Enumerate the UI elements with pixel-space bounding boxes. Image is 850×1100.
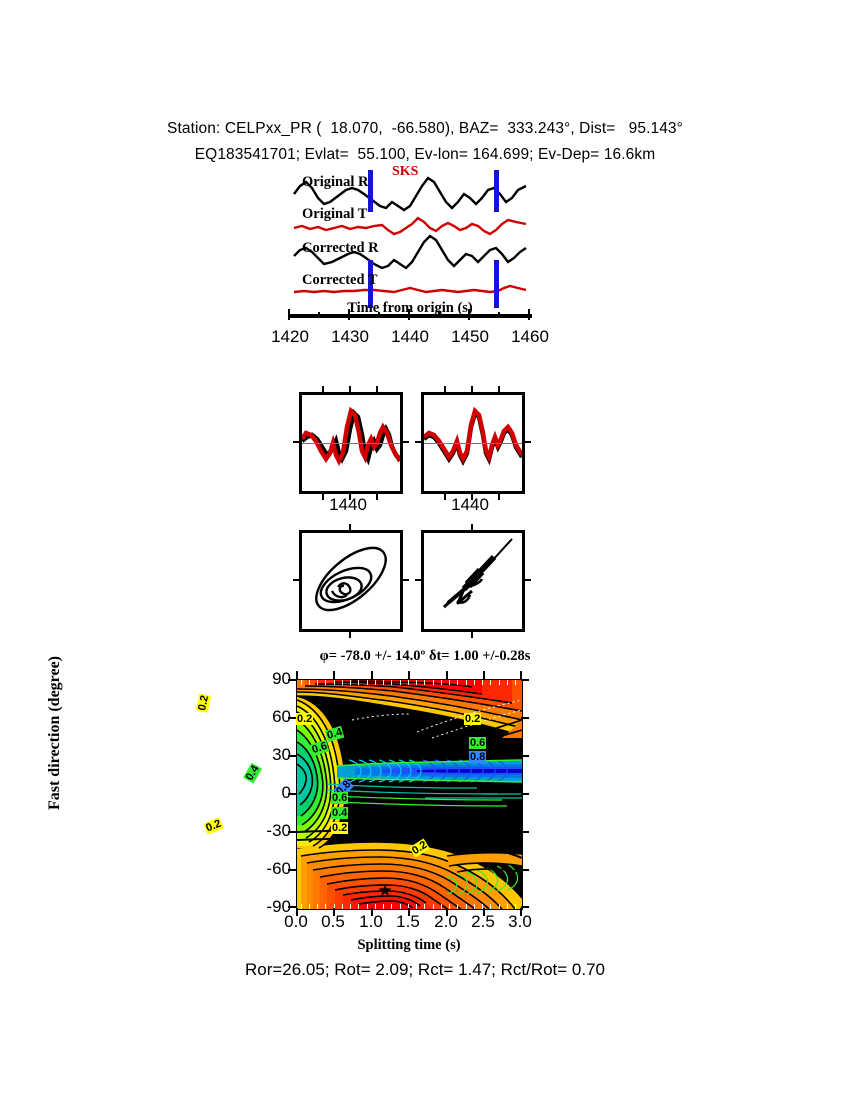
contour-label: 0.2 — [464, 713, 481, 725]
contour-label: 0.6 — [331, 792, 348, 804]
xtick-2-5: 2.5 — [471, 912, 495, 932]
xtick-0-0: 0.0 — [284, 912, 308, 932]
trace-label-original-r: Original R — [302, 174, 368, 191]
time-tick-1430: 1430 — [331, 327, 369, 347]
time-tick-1460: 1460 — [511, 327, 549, 347]
ytick-0: 0 — [282, 783, 291, 803]
trace-label-corrected-t: Corrected T — [302, 272, 378, 289]
corrected-particle-motion-box — [421, 530, 525, 632]
xtick-1-5: 1.5 — [396, 912, 420, 932]
time-axis-title: Time from origin (s) — [288, 300, 532, 317]
ytick-90: 90 — [272, 669, 291, 689]
ytick-60: 60 — [272, 707, 291, 727]
station-info-line: Station: CELPxx_PR ( 18.070, -66.580), B… — [0, 120, 850, 138]
original-particle-motion-box — [299, 530, 403, 632]
ytick-30: 30 — [272, 745, 291, 765]
quality-metrics-line: Ror=26.05; Rot= 2.09; Rct= 1.47; Rct/Rot… — [0, 960, 850, 980]
contour-label: 0.2 — [296, 713, 313, 725]
ytick-neg30: -30 — [266, 821, 291, 841]
corrected-overlay-box — [421, 392, 525, 494]
time-tick-1420: 1420 — [271, 327, 309, 347]
contour-label: 0.8 — [469, 751, 486, 763]
contour-label: 0.2 — [196, 693, 211, 712]
contour-x-tick-labels: 0.0 0.5 1.0 1.5 2.0 2.5 3.0 — [236, 912, 582, 936]
fast-slow-box-tick-label: 1440 — [288, 495, 408, 515]
contour-label: 0.6 — [469, 737, 486, 749]
sks-phase-label: SKS — [392, 164, 418, 180]
time-tick-1450: 1450 — [451, 327, 489, 347]
ytick-neg60: -60 — [266, 859, 291, 879]
xtick-1-0: 1.0 — [359, 912, 383, 932]
trace-label-original-t: Original T — [302, 206, 367, 223]
contour-y-axis-label: Fast direction (degree) — [46, 623, 64, 843]
svg-text:★: ★ — [377, 881, 392, 901]
corrected-box-tick-label: 1440 — [410, 495, 530, 515]
contour-y-tick-labels: 90 60 30 0 -30 -60 -90 — [215, 679, 291, 908]
contour-label: 0.4 — [331, 807, 348, 819]
contour-plot-title: φ= -78.0 +/- 14.0º δt= 1.00 +/-0.28s — [140, 648, 710, 665]
fast-slow-overlay-box — [299, 392, 403, 494]
event-info-line: EQ183541701; Evlat= 55.100, Ev-lon= 164.… — [0, 146, 850, 164]
time-tick-1440: 1440 — [391, 327, 429, 347]
xtick-2-0: 2.0 — [434, 912, 458, 932]
contour-x-axis-label: Splitting time (s) — [296, 937, 522, 954]
window-marker-end-top — [494, 170, 499, 212]
waveform-panel: SKS Original R Original T Corrected R Co… — [288, 168, 532, 318]
xtick-3-0: 3.0 — [508, 912, 532, 932]
time-axis-tick-labels: 1420 1430 1440 1450 1460 — [258, 327, 562, 351]
xtick-0-5: 0.5 — [321, 912, 345, 932]
trace-label-corrected-r: Corrected R — [302, 240, 379, 257]
contour-label: 0.2 — [331, 822, 348, 834]
window-marker-start-top — [368, 170, 373, 212]
